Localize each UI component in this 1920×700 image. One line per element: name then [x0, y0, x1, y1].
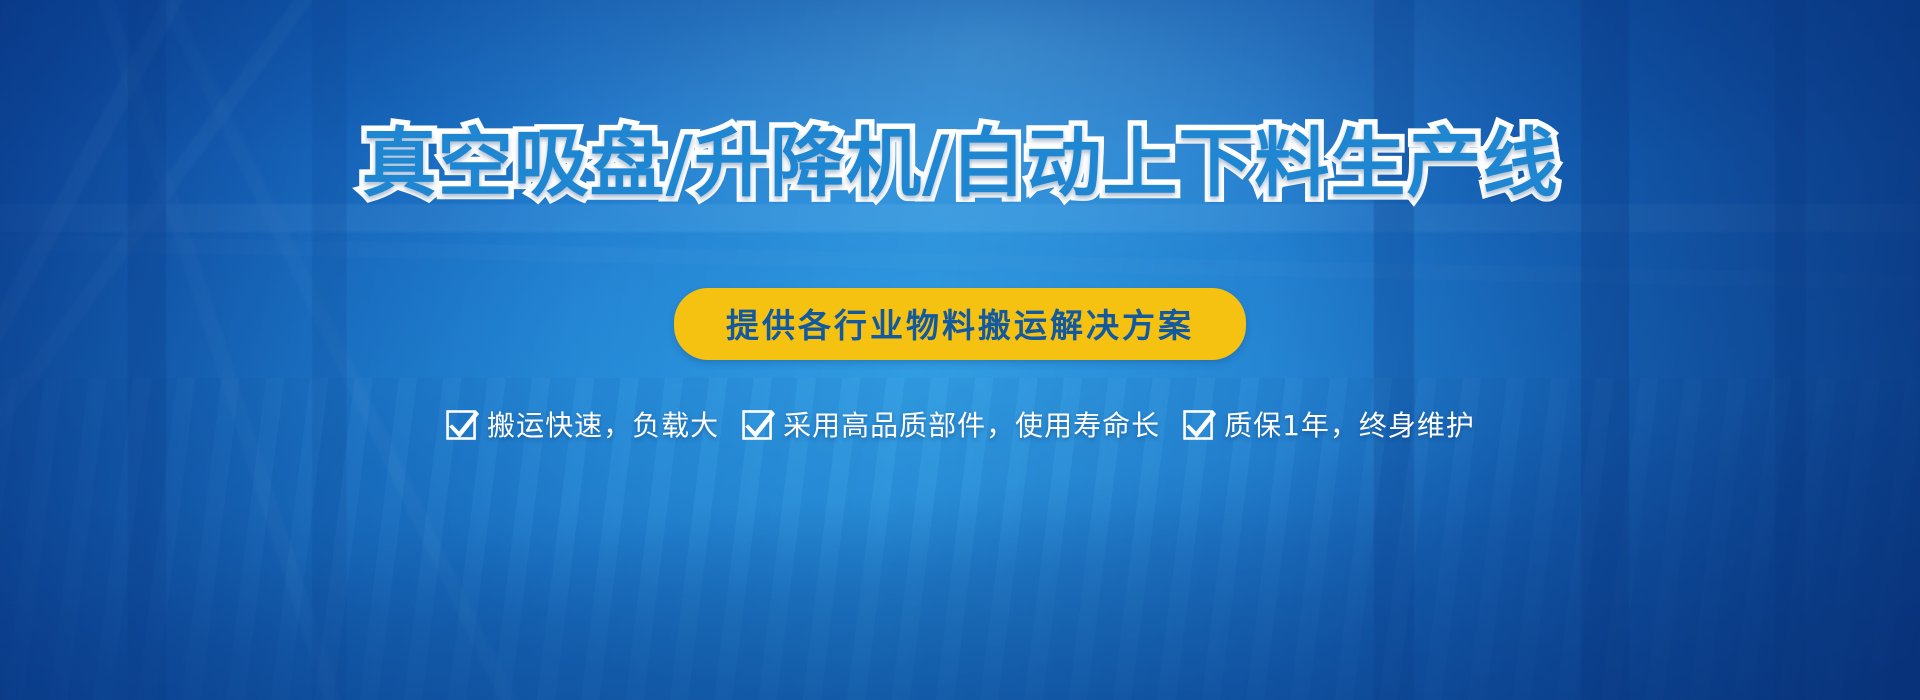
feature-list: 搬运快速，负载大 采用高品质部件，使用寿命长	[445, 404, 1475, 444]
checkbox-check-icon	[741, 407, 775, 441]
banner-content: 真空吸盘/升降机/自动上下料生产线 提供各行业物料搬运解决方案 搬运快速，负载大	[0, 0, 1920, 700]
checkbox-check-icon	[445, 407, 479, 441]
promo-banner: 真空吸盘/升降机/自动上下料生产线 提供各行业物料搬运解决方案 搬运快速，负载大	[0, 0, 1920, 700]
banner-headline: 真空吸盘/升降机/自动上下料生产线	[362, 126, 1559, 201]
feature-item: 质保1年，终身维护	[1182, 404, 1475, 444]
feature-label: 质保1年，终身维护	[1224, 404, 1475, 444]
feature-label: 搬运快速，负载大	[487, 404, 719, 444]
feature-label: 采用高品质部件，使用寿命长	[783, 404, 1160, 444]
feature-item: 搬运快速，负载大	[445, 404, 719, 444]
banner-subtitle-pill: 提供各行业物料搬运解决方案	[674, 288, 1246, 360]
checkbox-check-icon	[1182, 407, 1216, 441]
feature-item: 采用高品质部件，使用寿命长	[741, 404, 1160, 444]
